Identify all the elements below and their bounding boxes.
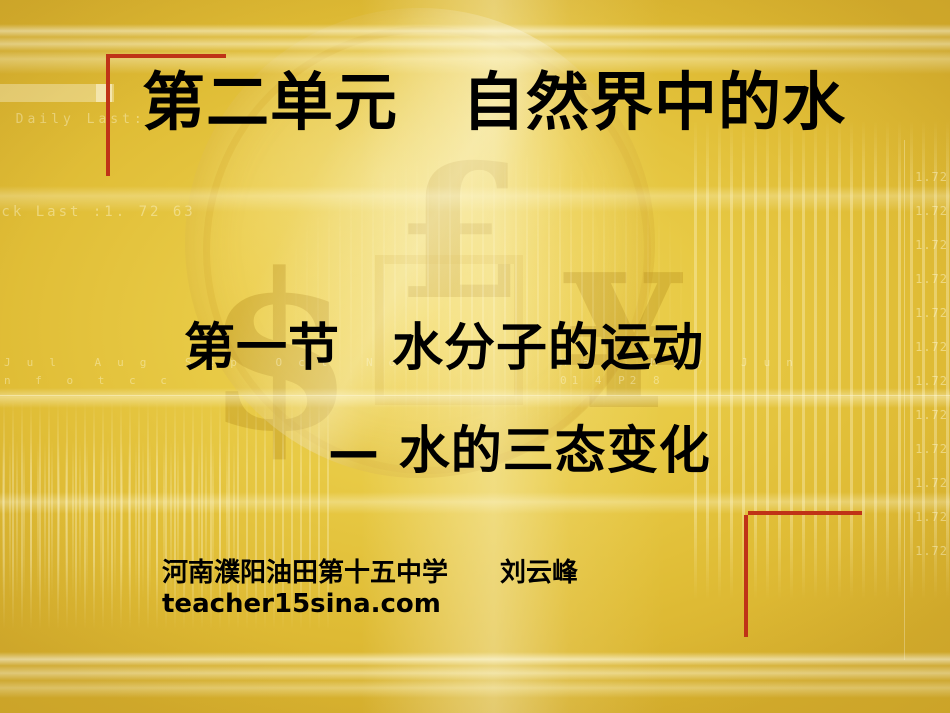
price-label: 1.72 [915, 510, 948, 524]
slide-subtitle: — 水的三态变化 [328, 425, 711, 479]
price-label: 1.72 [915, 374, 948, 388]
price-label: 1.72 [915, 306, 948, 320]
price-label: 1.72 [915, 544, 948, 558]
light-streak-band-mid [0, 388, 950, 408]
ticker-daily-last: O Daily Last: [0, 112, 146, 127]
ticker-info-line: n f o t c c [4, 374, 176, 387]
ticker-tick-last: ick Last :1. 72 63 [0, 204, 196, 220]
price-label: 1.72 [915, 442, 948, 456]
slide-section-title: 第一节 水分子的运动 [184, 322, 704, 376]
bracket-horizontal-rule [106, 54, 226, 58]
presentation-slide: £ $ ¥ O Daily Last: ick Last :1. 72 63 J… [0, 0, 950, 713]
slide-footer-credit: 河南濮阳油田第十五中学 刘云峰 teacher15sina.com [162, 558, 862, 619]
price-label: 1.72 [915, 272, 948, 286]
slide-main-title: 第二单元 自然界中的水 [142, 70, 846, 136]
ticker-price-axis: 1.72 1.72 1.72 1.72 1.72 1.72 1.72 1.72 … [915, 170, 948, 558]
price-label: 1.72 [915, 340, 948, 354]
price-label: 1.72 [915, 476, 948, 490]
bracket-vertical-rule [106, 54, 110, 176]
bracket-horizontal-rule [748, 511, 862, 515]
price-label: 1.72 [915, 238, 948, 252]
price-label: 1.72 [915, 204, 948, 218]
light-streak-band-bottom [0, 652, 950, 698]
price-label: 1.72 [915, 408, 948, 422]
price-label: 1.72 [915, 170, 948, 184]
